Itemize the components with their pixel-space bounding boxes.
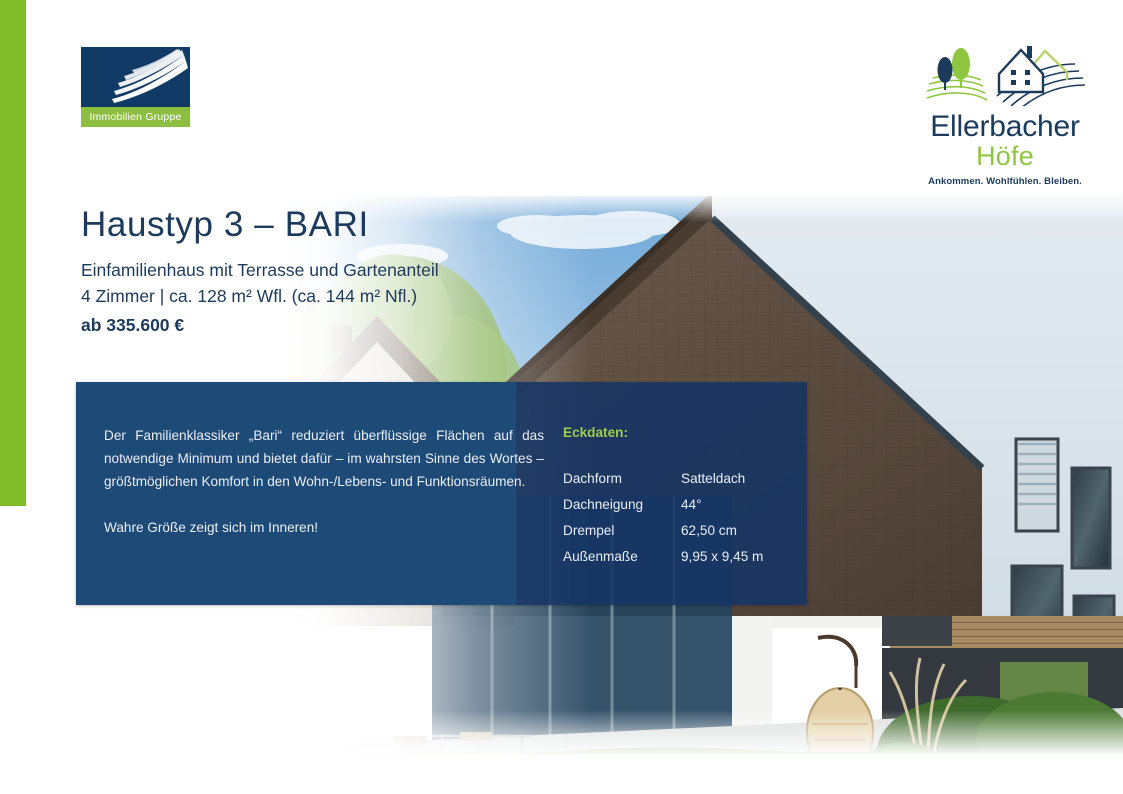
ellerbacher-logo-word1: Ellerbacher bbox=[915, 111, 1095, 143]
table-row: Dachneigung 44° bbox=[563, 494, 763, 520]
page-title: Haustyp 3 – BARI bbox=[81, 203, 439, 247]
eckdaten-block: Eckdaten: Dachform Satteldach Dachneigun… bbox=[563, 425, 763, 572]
eckdaten-label: Dachneigung bbox=[563, 494, 681, 520]
eckdaten-label: Außenmaße bbox=[563, 546, 681, 572]
ellerbacher-logo-word2: Höfe bbox=[915, 143, 1095, 170]
table-row: Außenmaße 9,95 x 9,45 m bbox=[563, 546, 763, 572]
eckdaten-value: Satteldach bbox=[681, 468, 763, 494]
eckdaten-table: Dachform Satteldach Dachneigung 44° Drem… bbox=[563, 468, 763, 572]
info-panel: Der Familienklassiker „Bari“ reduziert ü… bbox=[76, 382, 807, 605]
building-icon bbox=[106, 49, 190, 105]
photo-bottom-fade bbox=[282, 710, 1123, 756]
farmhouse-field-icon bbox=[915, 34, 1095, 106]
eckdaten-value: 9,95 x 9,45 m bbox=[681, 546, 763, 572]
kuenne-logo-blue-block bbox=[81, 47, 190, 107]
kuenne-logo-tagline: Immobilien Gruppe bbox=[81, 107, 190, 127]
subtitle-area: 4 Zimmer | ca. 128 m² Wfl. (ca. 144 m² N… bbox=[81, 283, 439, 309]
table-row: Drempel 62,50 cm bbox=[563, 520, 763, 546]
claim-text: Wahre Größe zeigt sich im Inneren! bbox=[104, 516, 544, 539]
ellerbacher-hoefe-logo[interactable]: Ellerbacher Höfe Ankommen. Wohlfühlen. B… bbox=[915, 34, 1095, 179]
description-text: Der Familienklassiker „Bari“ reduziert ü… bbox=[104, 424, 544, 493]
left-accent-bar bbox=[0, 0, 26, 506]
brochure-page: Künne Immobilien Gruppe bbox=[0, 0, 1123, 794]
description-block: Der Familienklassiker „Bari“ reduziert ü… bbox=[104, 424, 544, 539]
eckdaten-value: 62,50 cm bbox=[681, 520, 763, 546]
table-row: Dachform Satteldach bbox=[563, 468, 763, 494]
eckdaten-title: Eckdaten: bbox=[563, 425, 763, 440]
eckdaten-value: 44° bbox=[681, 494, 763, 520]
eckdaten-label: Drempel bbox=[563, 520, 681, 546]
ellerbacher-logo-tagline: Ankommen. Wohlfühlen. Bleiben. bbox=[915, 176, 1095, 187]
eckdaten-label: Dachform bbox=[563, 468, 681, 494]
kuenne-logo[interactable]: Künne Immobilien Gruppe bbox=[81, 47, 190, 127]
subtitle-property: Einfamilienhaus mit Terrasse und Gartena… bbox=[81, 257, 439, 283]
price-label: ab 335.600 € bbox=[81, 312, 439, 338]
headline-block: Haustyp 3 – BARI Einfamilienhaus mit Ter… bbox=[81, 203, 439, 338]
